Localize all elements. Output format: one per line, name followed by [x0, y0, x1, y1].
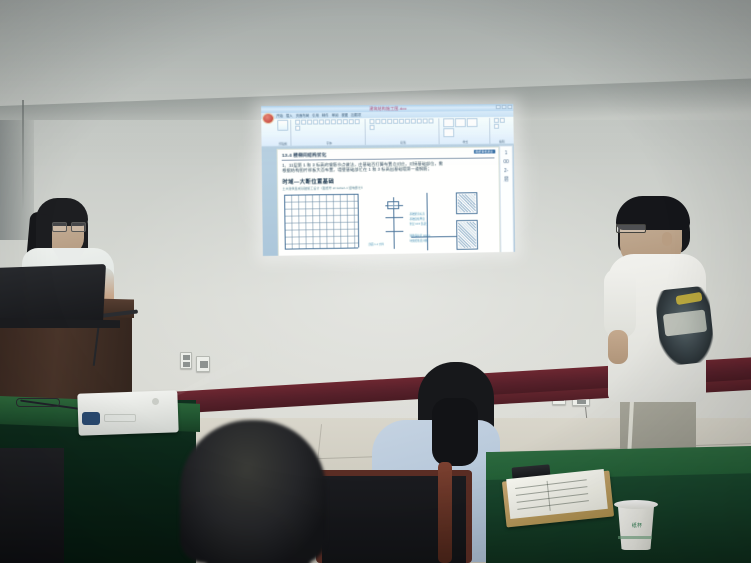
- editing-controls[interactable]: [494, 118, 510, 129]
- cad-grid: [284, 194, 358, 249]
- cad-line: [386, 217, 404, 218]
- eyeglasses-on-table[interactable]: [16, 398, 60, 407]
- cad-note: 地梁配筋见详图: [410, 239, 428, 242]
- standing-man-glasses-icon: [616, 224, 646, 233]
- office-orb-icon[interactable]: [262, 113, 274, 124]
- paper-cup-band: [618, 536, 652, 539]
- font-color-icon: [331, 119, 336, 124]
- cad-drawing-area: 基础梁顶标高 基础底板厚度 垫层 C15 混凝土 钢筋保护层 40mm 地梁配筋…: [282, 190, 495, 255]
- style-heading1: [455, 118, 466, 127]
- paste-icon: [277, 120, 288, 131]
- style-gallery[interactable]: [443, 118, 487, 137]
- numbering-icon: [375, 119, 380, 124]
- cad-detail-box: [388, 201, 400, 209]
- cad-note: 剖面 1-1 大样: [368, 243, 383, 246]
- justify-icon: [411, 119, 416, 124]
- cad-line: [358, 194, 360, 248]
- seated-woman-ponytail: [432, 398, 478, 466]
- side-mark: 2-: [504, 168, 508, 174]
- wall-corner-line: [22, 100, 24, 210]
- tab-mailings[interactable]: 邮件: [322, 112, 329, 118]
- ribbon-group-label: 剪贴板: [278, 142, 289, 146]
- ribbon-group-label: 样式: [443, 140, 487, 144]
- bold-icon: [295, 120, 300, 125]
- document-paragraph: 根据结构图片样板大否布置，墙壁基础部位在 1 和 3 标高出基础墙第一道钢筋；: [282, 166, 494, 174]
- chair-post: [438, 462, 452, 563]
- tab-page-layout[interactable]: 页面布局: [296, 113, 310, 119]
- line-spacing-icon: [417, 119, 422, 124]
- style-heading2: [466, 118, 477, 127]
- projector-vent: [104, 414, 136, 422]
- grow-font-icon: [343, 119, 348, 124]
- cad-note: 垫层 C15 混凝土: [410, 223, 429, 226]
- cad-note: 钢筋保护层 40mm: [410, 234, 431, 237]
- cad-line: [386, 231, 404, 232]
- ribbon-group-clipboard[interactable]: 剪贴板: [275, 120, 291, 146]
- foreground-attendee-head: [180, 420, 326, 563]
- shading-icon: [423, 119, 428, 124]
- ribbon-group-paragraph[interactable]: 段落: [367, 118, 439, 144]
- italic-icon: [301, 120, 306, 125]
- document-canvas[interactable]: 13.4 楼梯间结构优化 1、11层第 1 和 3 标高的钢筋节点做法，由基础百…: [262, 144, 515, 256]
- classroom-presentation-scene: 建筑结构施工图.doc 开始 插入 页面布局 引用 邮件 审阅 视图 加载项 剪…: [0, 0, 751, 563]
- side-mark: 00: [503, 159, 508, 165]
- tab-insert[interactable]: 插入: [286, 113, 293, 119]
- projected-computer-screen[interactable]: 建筑结构施工图.doc 开始 插入 页面布局 引用 邮件 审阅 视图 加载项 剪…: [261, 104, 515, 256]
- shrink-font-icon: [349, 119, 354, 124]
- cad-note: 基础底板厚度: [409, 218, 424, 221]
- cad-hatch: [459, 222, 477, 248]
- window-title: 建筑结构施工图.doc: [369, 105, 406, 112]
- ribbon-group-font[interactable]: 字体: [293, 119, 366, 146]
- underline-icon: [307, 120, 312, 125]
- paragraph-controls[interactable]: [369, 118, 436, 130]
- approval-stamp: 图纸审核通过: [474, 150, 495, 154]
- close-icon: [507, 105, 512, 109]
- clear-format-icon: [355, 119, 360, 124]
- standing-man-forearm: [608, 330, 628, 364]
- document-page[interactable]: 13.4 楼梯间结构优化 1、11层第 1 和 3 标高的钢筋节点做法，由基础百…: [277, 147, 500, 256]
- align-left-icon: [393, 119, 398, 124]
- superscript-icon: [325, 119, 330, 124]
- replace-icon: [500, 118, 505, 123]
- ribbon-group-editing[interactable]: 编辑: [492, 118, 512, 144]
- sort-icon: [369, 125, 374, 130]
- style-title: [443, 128, 454, 137]
- chair-back-left[interactable]: [0, 448, 64, 563]
- projector-power-button[interactable]: [152, 398, 159, 405]
- tab-home[interactable]: 开始: [276, 113, 283, 119]
- subscript-icon: [319, 119, 324, 124]
- standing-man-ear: [662, 232, 672, 246]
- tab-addins[interactable]: 加载项: [351, 112, 361, 118]
- projector-lens: [82, 412, 100, 425]
- laptop-screen[interactable]: [0, 264, 106, 326]
- align-center-icon: [399, 119, 404, 124]
- ribbon-group-label: 字体: [295, 142, 362, 146]
- tab-references[interactable]: 引用: [312, 113, 319, 119]
- paper-cup-rim: [614, 500, 658, 509]
- select-icon: [494, 124, 499, 129]
- indent-icon: [387, 119, 392, 124]
- multilevel-icon: [381, 119, 386, 124]
- tab-review[interactable]: 审阅: [332, 112, 339, 118]
- style-normal: [443, 118, 454, 127]
- ribbon-group-styles[interactable]: 样式: [441, 118, 490, 144]
- minimize-icon: [496, 105, 501, 109]
- presenter-glasses-icon: [52, 222, 86, 231]
- wall-switch-panel-left[interactable]: [180, 352, 192, 369]
- bullets-icon: [369, 119, 374, 124]
- strike-icon: [313, 119, 318, 124]
- highlight-icon: [337, 119, 342, 124]
- find-icon: [494, 118, 499, 123]
- cad-line: [285, 247, 358, 249]
- cad-note: 基础梁顶标高: [409, 213, 424, 216]
- align-right-icon: [405, 119, 410, 124]
- window-controls[interactable]: [496, 105, 513, 109]
- document-side-panel[interactable]: 1 00 2- 层: [499, 145, 514, 254]
- tab-view[interactable]: 视图: [341, 112, 348, 118]
- maximize-icon: [502, 105, 507, 109]
- ribbon-toolbar[interactable]: 剪贴板 字体 段落: [261, 117, 514, 147]
- ribbon-group-label: 编辑: [494, 140, 510, 144]
- paper-cup-print: 纸杯: [624, 522, 650, 529]
- borders-icon: [428, 118, 433, 123]
- font-controls[interactable]: [295, 119, 362, 131]
- cad-hatch: [458, 194, 476, 212]
- ribbon-group-label: 段落: [370, 141, 437, 145]
- side-mark: 1: [505, 150, 508, 156]
- side-mark: 层: [504, 177, 509, 183]
- case-icon: [295, 126, 300, 131]
- standing-man-sleeve: [604, 268, 636, 338]
- wall-socket-left[interactable]: [196, 356, 210, 372]
